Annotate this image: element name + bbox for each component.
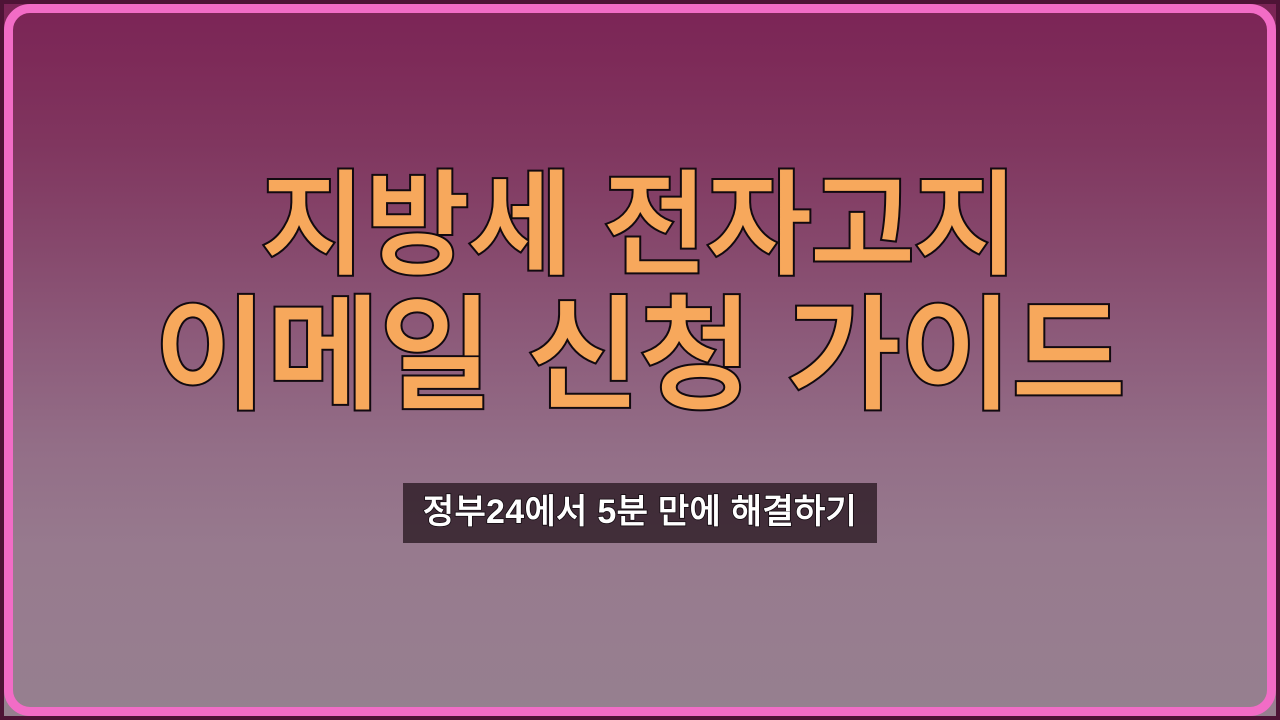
title-card: 지방세 전자고지 이메일 신청 가이드 정부24에서 5분 만에 해결하기	[0, 0, 1280, 720]
headline-line-1: 지방세 전자고지	[0, 163, 1280, 288]
headline-line-2: 이메일 신청 가이드	[0, 288, 1280, 425]
subtitle-text: 정부24에서 5분 만에 해결하기	[403, 483, 877, 543]
subtitle-container: 정부24에서 5분 만에 해결하기	[0, 483, 1280, 543]
title-card-content: 지방세 전자고지 이메일 신청 가이드 정부24에서 5분 만에 해결하기	[0, 0, 1280, 720]
